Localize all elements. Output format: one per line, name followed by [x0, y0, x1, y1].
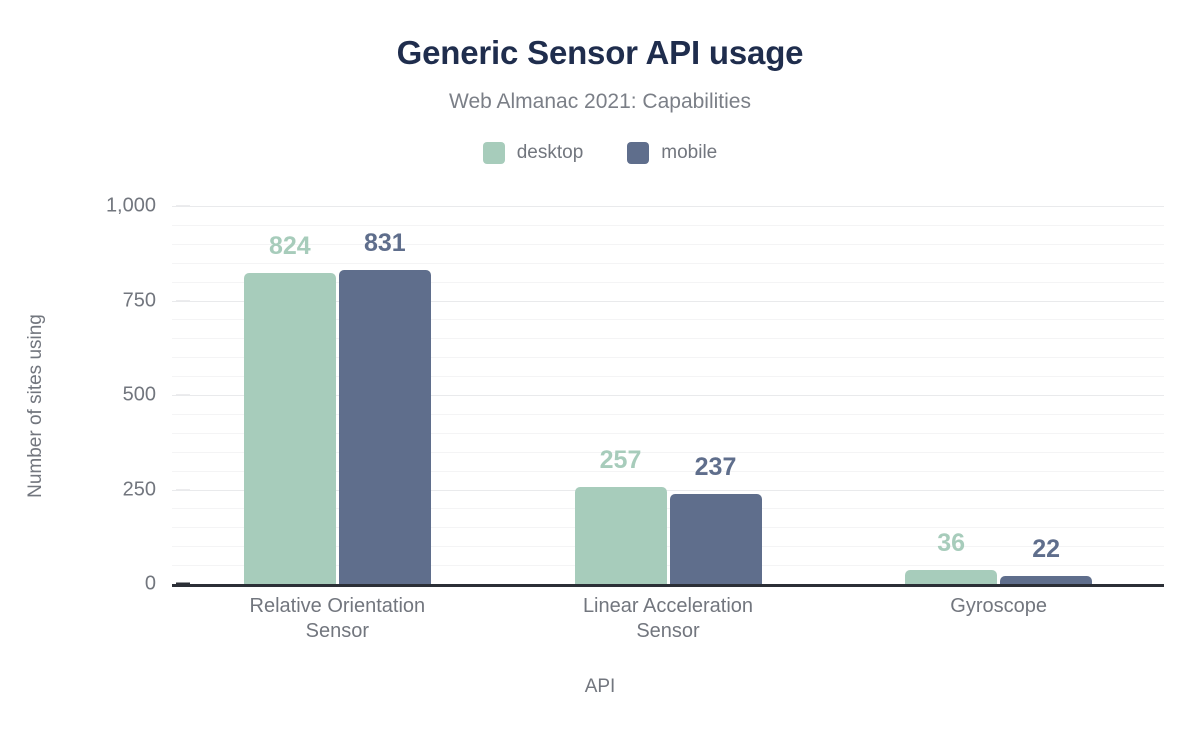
- legend-label-mobile: mobile: [661, 142, 717, 164]
- bar-value-label-desktop-0: 824: [244, 232, 336, 261]
- chart-legend: desktop mobile: [0, 142, 1200, 164]
- legend-swatch-desktop: [483, 142, 505, 164]
- bar-value-label-mobile-2: 22: [1000, 535, 1092, 564]
- gridline-minor: [172, 263, 1164, 264]
- y-axis-tick-label: 500: [36, 384, 156, 407]
- x-axis-category-label: Linear AccelerationSensor: [528, 594, 808, 644]
- bar-mobile-1[interactable]: [670, 494, 762, 584]
- legend-item-desktop[interactable]: desktop: [483, 142, 584, 164]
- bar-value-label-mobile-0: 831: [339, 229, 431, 258]
- bar-desktop-2[interactable]: [905, 570, 997, 584]
- chart-title: Generic Sensor API usage: [0, 34, 1200, 72]
- bar-mobile-0[interactable]: [339, 270, 431, 584]
- x-axis-category-line1: Linear Acceleration: [528, 594, 808, 619]
- bar-mobile-2[interactable]: [1000, 576, 1092, 584]
- x-axis-category-line1: Relative Orientation: [197, 594, 477, 619]
- x-axis-category-label: Relative OrientationSensor: [197, 594, 477, 644]
- legend-swatch-mobile: [627, 142, 649, 164]
- legend-label-desktop: desktop: [517, 142, 584, 164]
- x-axis-title: API: [0, 676, 1200, 698]
- plot-area: 8248312572373622: [172, 206, 1164, 584]
- legend-item-mobile[interactable]: mobile: [627, 142, 717, 164]
- y-axis-tick-label: 1,000: [36, 195, 156, 218]
- x-axis-category-line2: Sensor: [528, 619, 808, 644]
- y-axis-tick-label: 750: [36, 289, 156, 312]
- x-axis-category-line1: Gyroscope: [859, 594, 1139, 619]
- x-axis-category-label: Gyroscope: [859, 594, 1139, 619]
- bar-desktop-0[interactable]: [244, 273, 336, 584]
- bar-value-label-desktop-2: 36: [905, 529, 997, 558]
- x-axis-category-line2: Sensor: [197, 619, 477, 644]
- chart-subtitle: Web Almanac 2021: Capabilities: [0, 90, 1200, 114]
- y-axis-tick-label: 250: [36, 478, 156, 501]
- bar-value-label-desktop-1: 257: [575, 446, 667, 475]
- y-axis-title: Number of sites using: [25, 296, 47, 516]
- y-axis-tick-label: 0: [36, 573, 156, 596]
- bar-value-label-mobile-1: 237: [670, 453, 762, 482]
- gridline-major: [172, 206, 1164, 207]
- x-axis-baseline: [172, 584, 1164, 587]
- bar-desktop-1[interactable]: [575, 487, 667, 584]
- gridline-minor: [172, 225, 1164, 226]
